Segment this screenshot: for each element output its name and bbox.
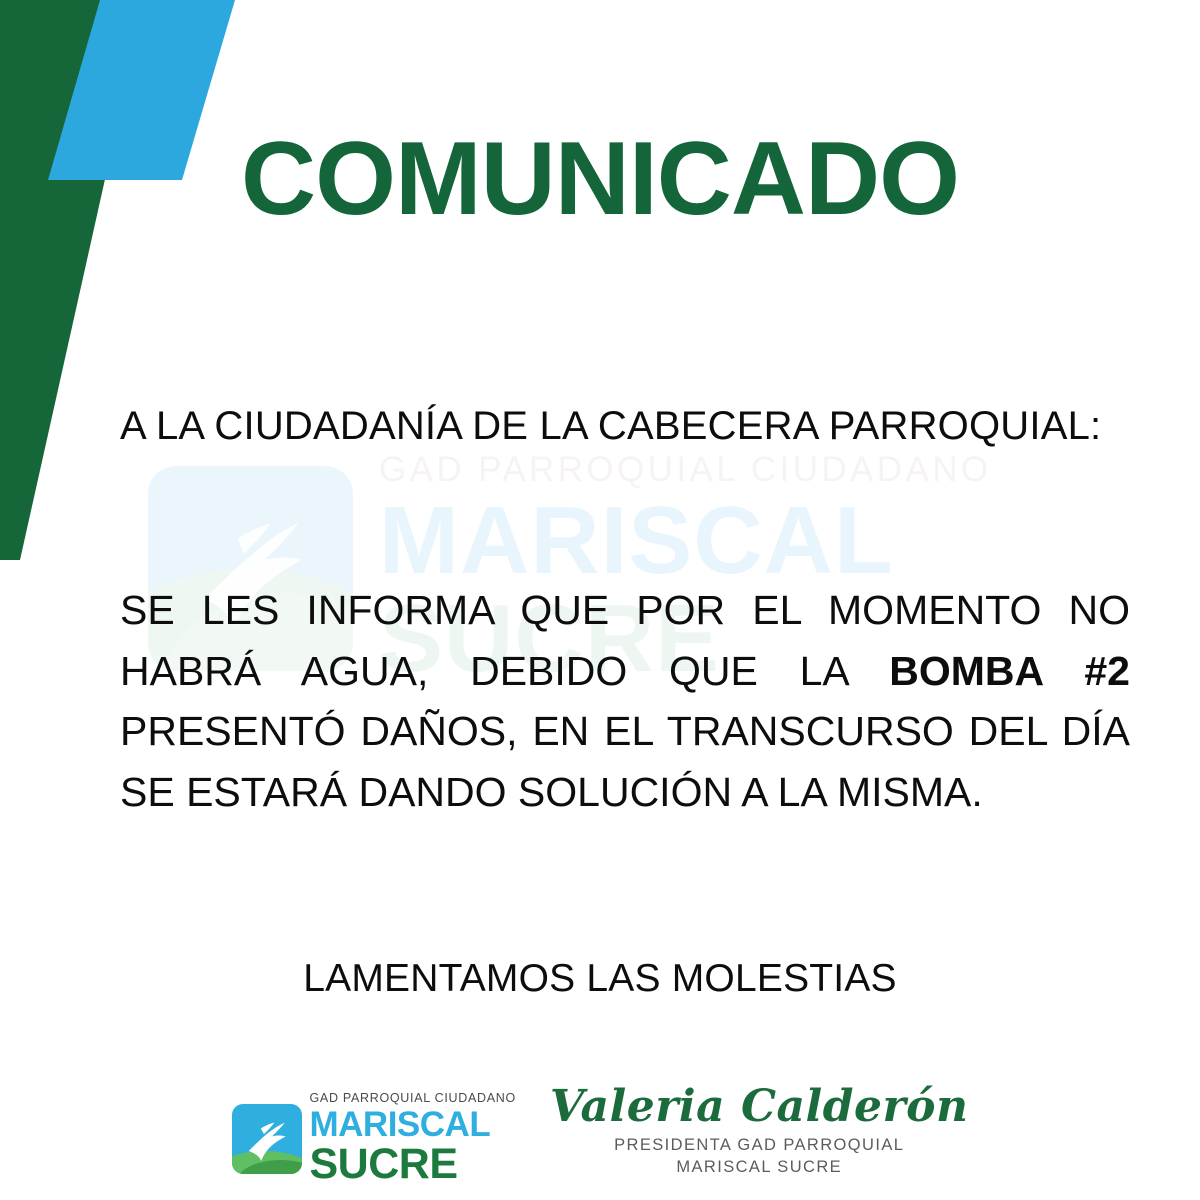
body-highlight-bomba: BOMBA #2: [889, 648, 1130, 694]
watermark-name-top: MARISCAL: [379, 493, 1048, 589]
page-title: COMUNICADO: [0, 127, 1200, 231]
body-segment-after: PRESENTÓ DAÑOS, EN EL TRANSCURSO DEL DÍA…: [120, 708, 1130, 815]
signature-role-line1: PRESIDENTA GAD PARROQUIAL: [550, 1134, 969, 1156]
signature-block: Valeria Calderón PRESIDENTA GAD PARROQUI…: [550, 1084, 969, 1179]
salutation-text: A LA CIUDADANÍA DE LA CABECERA PARROQUIA…: [120, 402, 1130, 450]
comunicado-poster: GAD PARROQUIAL CIUDADANO MARISCAL SUCRE …: [0, 0, 1200, 1200]
bird-icon: [240, 1111, 295, 1167]
logo-wordmark: GAD PARROQUIAL CIUDADANO MARISCAL SUCRE: [310, 1092, 516, 1186]
poster-footer: GAD PARROQUIAL CIUDADANO MARISCAL SUCRE …: [0, 1078, 1200, 1200]
logo-name-top: MARISCAL: [310, 1107, 516, 1142]
apology-text: LAMENTAMOS LAS MOLESTIAS: [0, 957, 1200, 1001]
watermark-tagline: GAD PARROQUIAL CIUDADANO: [379, 452, 1048, 487]
logo-tagline: GAD PARROQUIAL CIUDADANO: [310, 1092, 516, 1105]
logo-mark: [232, 1104, 302, 1174]
announcement-body: SE LES INFORMA QUE POR EL MOMENTO NO HAB…: [120, 580, 1130, 823]
signature-name: Valeria Calderón: [550, 1084, 969, 1130]
institution-logo: GAD PARROQUIAL CIUDADANO MARISCAL SUCRE: [232, 1092, 516, 1186]
logo-name-bottom: SUCRE: [310, 1143, 516, 1186]
signature-role-line2: MARISCAL SUCRE: [550, 1156, 969, 1178]
